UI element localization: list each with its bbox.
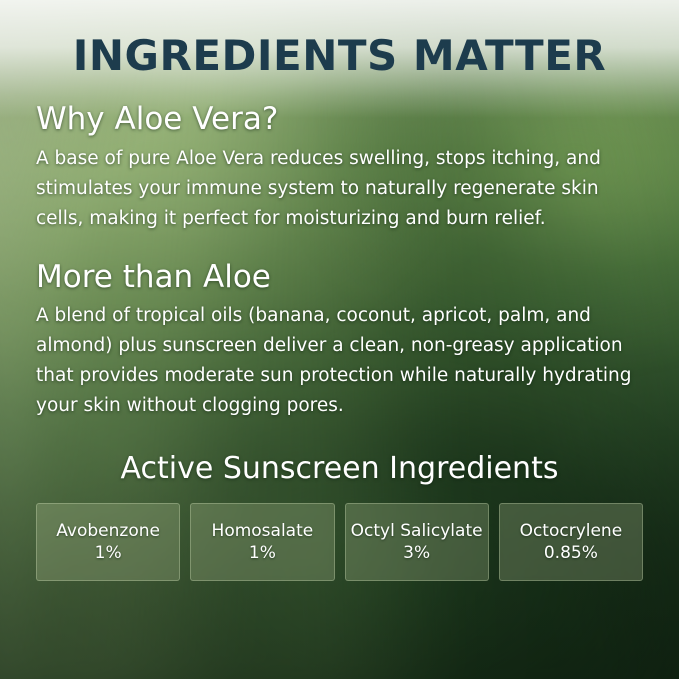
- ingredient-percent: 1%: [249, 543, 276, 563]
- ingredient-name: Avobenzone: [56, 521, 160, 541]
- card-content: INGREDIENTS MATTER Why Aloe Vera? A base…: [0, 0, 679, 679]
- section-body-more-than-aloe: A blend of tropical oils (banana, coconu…: [36, 301, 643, 421]
- page-title: INGREDIENTS MATTER: [36, 0, 643, 78]
- active-ingredients-list: Avobenzone 1% Homosalate 1% Octyl Salicy…: [36, 503, 643, 581]
- ingredient-name: Octocrylene: [520, 521, 623, 541]
- ingredient-tile: Octyl Salicylate 3%: [345, 503, 489, 581]
- section-body-why-aloe-vera: A base of pure Aloe Vera reduces swellin…: [36, 144, 643, 234]
- ingredients-info-card: INGREDIENTS MATTER Why Aloe Vera? A base…: [0, 0, 679, 679]
- section-more-than-aloe: More than Aloe A blend of tropical oils …: [36, 260, 643, 422]
- ingredient-tile: Avobenzone 1%: [36, 503, 180, 581]
- ingredient-percent: 3%: [403, 543, 430, 563]
- ingredient-percent: 0.85%: [544, 543, 598, 563]
- ingredient-tile: Octocrylene 0.85%: [499, 503, 643, 581]
- ingredient-name: Homosalate: [212, 521, 314, 541]
- section-title-why-aloe-vera: Why Aloe Vera?: [36, 102, 643, 138]
- ingredient-percent: 1%: [95, 543, 122, 563]
- ingredient-name: Octyl Salicylate: [351, 521, 483, 541]
- ingredient-tile: Homosalate 1%: [190, 503, 334, 581]
- section-title-more-than-aloe: More than Aloe: [36, 260, 643, 296]
- active-ingredients-title: Active Sunscreen Ingredients: [36, 451, 643, 487]
- section-why-aloe-vera: Why Aloe Vera? A base of pure Aloe Vera …: [36, 102, 643, 234]
